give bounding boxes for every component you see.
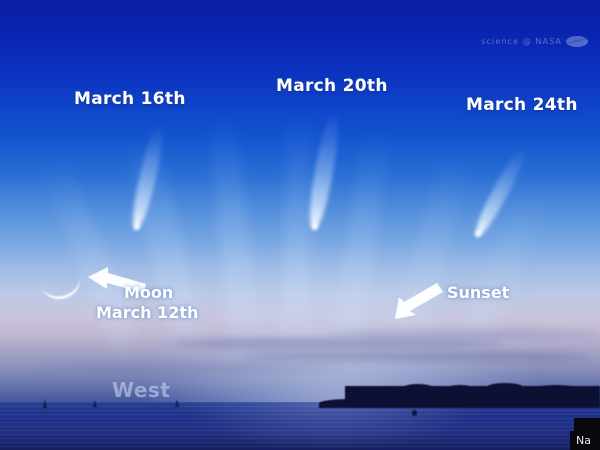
buoy-marker <box>412 410 417 416</box>
compass-direction-west: West <box>112 378 170 402</box>
comet-date-label-march-24: March 24th <box>466 95 578 115</box>
ray-1 <box>39 155 147 366</box>
moon-annotation-line-2: March 12th <box>96 303 198 323</box>
cloud-band-1 <box>170 338 500 349</box>
water-light-sheen <box>180 402 480 450</box>
comet-date-label-march-20: March 20th <box>276 76 388 96</box>
sailboat-silhouette-1 <box>43 399 47 408</box>
tree-bump <box>485 383 525 394</box>
cloud-band-3 <box>40 364 340 372</box>
tree-line-silhouette <box>345 386 600 408</box>
tree-bump <box>445 385 475 394</box>
sailboat-silhouette-3 <box>175 399 179 407</box>
moon-annotation-line-1: Moon <box>124 283 198 303</box>
annotated-sky-photograph: March 16th March 20th March 24th Moon Ma… <box>0 0 600 450</box>
sailboat-silhouette-2 <box>93 400 97 407</box>
cloud-band-4 <box>330 330 600 338</box>
tree-bump <box>363 386 389 394</box>
tree-bump <box>401 384 435 394</box>
moon-annotation: Moon March 12th <box>124 283 198 323</box>
arrow-down-left-icon <box>393 283 451 327</box>
tree-bump <box>533 385 579 394</box>
corner-badge-label: Na <box>570 431 600 450</box>
cloud-band-2 <box>240 352 590 361</box>
nasa-meatball-logo-icon <box>566 36 588 47</box>
comet-date-label-march-16: March 16th <box>74 89 186 109</box>
science-nasa-watermark: science @ NASA <box>481 36 588 47</box>
watermark-text: science @ NASA <box>481 37 562 46</box>
sunset-annotation-label: Sunset <box>447 283 509 303</box>
